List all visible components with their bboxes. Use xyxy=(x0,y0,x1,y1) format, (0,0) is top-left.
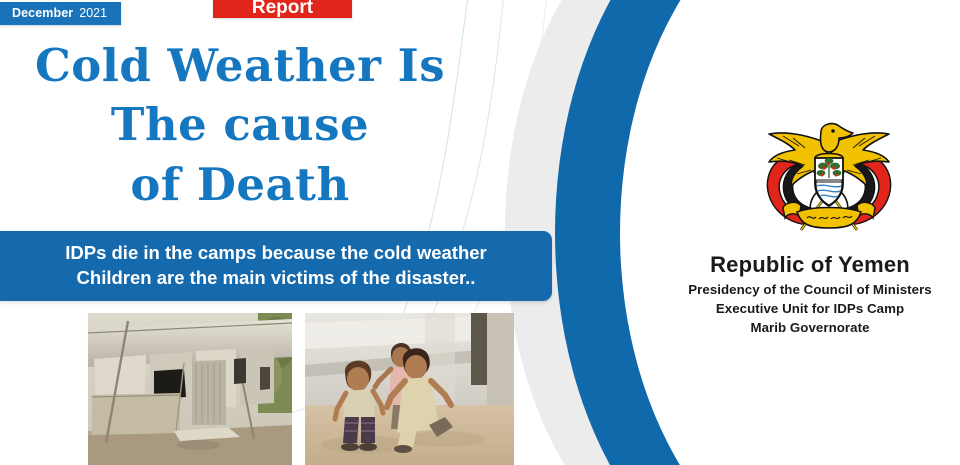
organization-title: Republic of Yemen xyxy=(660,252,960,278)
organization-block: Republic of Yemen Presidency of the Coun… xyxy=(660,252,960,338)
page-title: Cold Weather Is The cause of Death xyxy=(0,36,480,214)
date-badge-year: 2021 xyxy=(79,6,107,20)
subtitle-line-2: Children are the main victims of the dis… xyxy=(14,265,538,290)
organization-line-3: Marib Governorate xyxy=(660,319,960,338)
page-title-line-2: The cause xyxy=(0,95,480,154)
yemen-emblem-icon xyxy=(753,118,905,246)
organization-line-1: Presidency of the Council of Ministers xyxy=(660,281,960,300)
date-badge-month: December xyxy=(12,6,73,20)
report-ribbon: Report xyxy=(213,0,352,18)
date-badge: December 2021 xyxy=(0,2,121,25)
subtitle-line-1: IDPs die in the camps because the cold w… xyxy=(14,240,538,265)
report-cover-page: December 2021 Report Cold Weather Is The… xyxy=(0,0,960,465)
page-title-line-1: Cold Weather Is xyxy=(0,36,480,95)
photo-children xyxy=(305,313,514,465)
subtitle-banner: IDPs die in the camps because the cold w… xyxy=(0,231,552,301)
report-ribbon-label: Report xyxy=(252,0,313,18)
page-title-line-3: of Death xyxy=(0,155,480,214)
yemen-emblem-graphic xyxy=(753,118,905,246)
photo-children-image xyxy=(305,313,514,465)
organization-line-2: Executive Unit for IDPs Camp xyxy=(660,300,960,319)
photo-tent xyxy=(88,313,292,465)
photo-tent-image xyxy=(88,313,292,465)
